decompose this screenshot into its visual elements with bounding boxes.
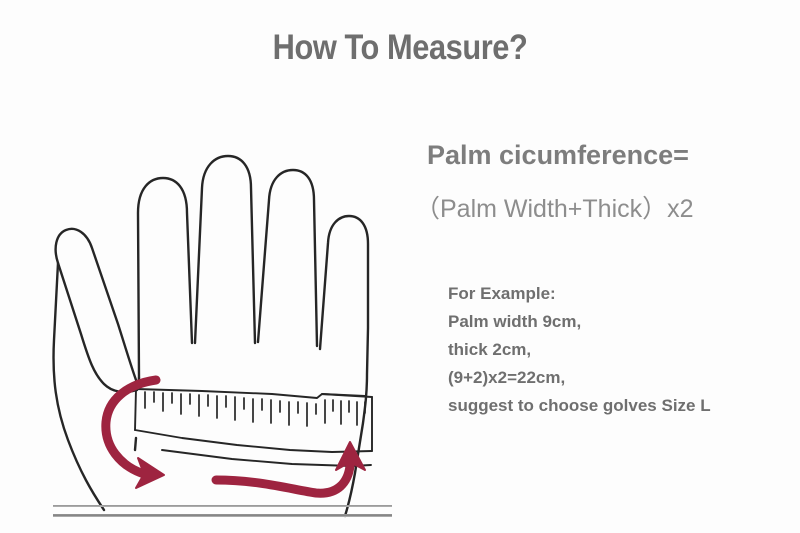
example-line: suggest to choose golves Size L	[448, 392, 788, 420]
bottom-bars	[53, 505, 393, 517]
example-line: thick 2cm,	[448, 336, 788, 364]
formula-sub-line: （Palm Width+Thick）x2	[415, 189, 795, 225]
page-title: How To Measure?	[48, 28, 752, 68]
hand-outline	[54, 156, 368, 516]
page-root: How To Measure?	[0, 0, 800, 533]
formula-panel: Palm cicumference= （Palm Width+Thick）x2	[415, 140, 795, 225]
example-line: For Example:	[448, 280, 788, 308]
measuring-tape-ticks	[145, 392, 365, 426]
example-line: Palm width 9cm,	[448, 308, 788, 336]
bottom-bar-first	[53, 505, 392, 507]
formula-main-line: Palm cicumference=	[427, 140, 795, 171]
bottom-bar-second	[53, 514, 392, 517]
hand-palm-measurement-diagram	[32, 78, 412, 533]
example-block: For Example: Palm width 9cm, thick 2cm, …	[448, 280, 788, 420]
example-line: (9+2)x2=22cm,	[448, 364, 788, 392]
